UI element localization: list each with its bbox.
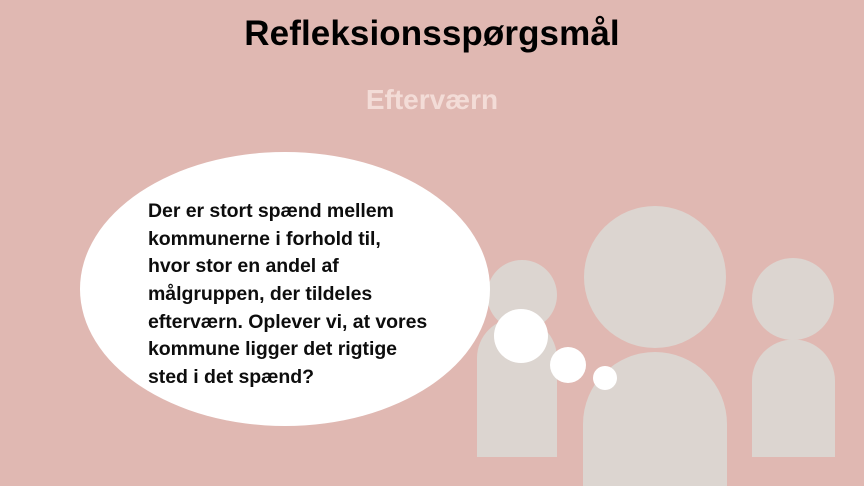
person-center xyxy=(583,206,727,486)
page-subtitle: Efterværn xyxy=(0,84,864,115)
speech-bubble-text: Der er stort spænd mellem kommunerne i f… xyxy=(148,198,428,392)
person-right-head xyxy=(752,258,834,340)
thought-bubble-large xyxy=(494,309,548,363)
page-title: Refleksionsspørgsmål xyxy=(0,14,864,53)
person-right-body xyxy=(752,339,835,457)
person-right xyxy=(752,258,835,457)
thought-bubble-medium xyxy=(550,347,586,383)
thought-bubble-small xyxy=(593,366,617,390)
presentation-slide: Der er stort spænd mellem kommunerne i f… xyxy=(0,0,864,486)
person-center-head xyxy=(584,206,726,348)
